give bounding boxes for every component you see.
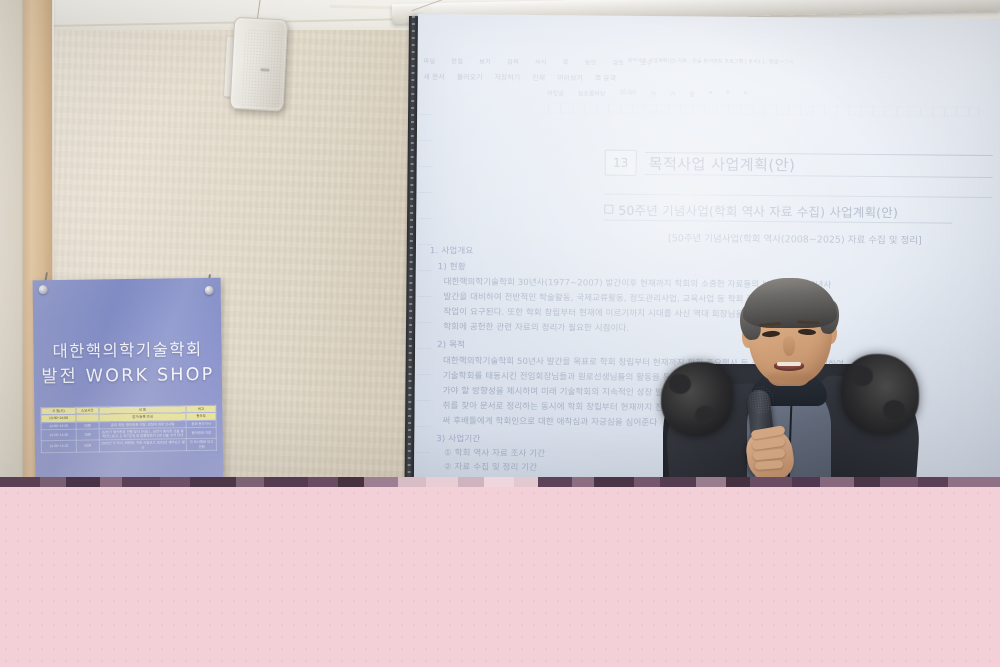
toolbar-save[interactable]: 저장하기 [494, 73, 520, 83]
menu-item-security[interactable]: 보안 [585, 57, 597, 66]
menu-item-tools[interactable]: 도구 [640, 58, 652, 67]
slide-header: 13 목적사업 사업계획(안) [605, 148, 993, 181]
period-item-1: ① 학회 역사 자료 조사 기간 [444, 446, 545, 459]
table-row: 14:30~15:20 50분 2025년 각 부서, 위원회, 지회 사업보고… [41, 439, 216, 453]
font-size-selector[interactable]: 10.0pt [619, 90, 636, 96]
presenter [655, 278, 925, 493]
row-time: 14:20~14:30 [41, 429, 76, 441]
nose [783, 336, 795, 356]
toolbar-new-doc[interactable]: 새 문서 [423, 72, 444, 82]
menu-item-view[interactable]: 보기 [479, 57, 491, 66]
app-toolbar-secondary: 바탕글 함초롬바탕 10.0pt 가 기 밑 ≡ ≡ ≡ [547, 87, 987, 101]
left-wall [0, 0, 24, 500]
wall-poster: 대한핵의학기술학회 발전 WORK SHOP 시 일(시) 소요시간 내 용 비… [33, 278, 224, 489]
pink-band-dot-pattern [0, 487, 1000, 667]
app-menu-bar: 파일 편집 보기 입력 서식 쪽 보안 검토 도구 [424, 56, 984, 70]
fur-trim-right [841, 354, 919, 434]
poster-schedule-table: 시 일(시) 소요시간 내 용 비고 13:30~14:00 참가/등록 안내 … [40, 405, 217, 453]
row-note: 평의원회 의장 [186, 427, 216, 439]
fur-tuft [669, 374, 691, 394]
menu-item-format[interactable]: 서식 [535, 57, 547, 66]
row-content: 2025년 각 부서, 위원회, 지회 사업보고 2025년 세부보고 결산 [99, 439, 187, 452]
slide-subtitle-text: 50주년 기념사업(학회 역사 자료 수집) 사업계획(안) [618, 203, 898, 220]
menu-item-review[interactable]: 검토 [613, 58, 625, 67]
document-ruler[interactable] [547, 103, 979, 117]
square-bullet-icon [604, 205, 613, 214]
section-purpose: 2) 목적 [437, 338, 465, 350]
app-toolbar-primary: 새 문서 불러오기 저장하기 인쇄 미리보기 쪽 윤곽 [423, 72, 983, 87]
pa-speaker-icon [224, 10, 289, 109]
toolbar-preview[interactable]: 미리보기 [557, 73, 583, 83]
section-status: 1) 현황 [438, 260, 466, 272]
fur-tuft [695, 406, 715, 424]
style-selector[interactable]: 바탕글 [547, 88, 564, 97]
chin-shadow [765, 372, 813, 382]
section-period: 3) 사업기간 [436, 432, 480, 444]
font-selector[interactable]: 함초롬바탕 [578, 88, 606, 97]
projected-app-chrome: 목적사업 사업계획(안) 자료 - 한글 문서편집 프로그램 [ 문서1 ] -… [417, 50, 1000, 129]
bold-button[interactable]: 가 [650, 89, 656, 98]
row-note: 각 부서별로 보고 진행 [187, 439, 217, 451]
teeth [777, 362, 801, 366]
menu-item-file[interactable]: 파일 [424, 56, 436, 65]
align-right-icon[interactable]: ≡ [744, 91, 748, 97]
row-duration: 10분 [76, 429, 99, 441]
slide-title: 목적사업 사업계획(안) [649, 153, 796, 175]
align-left-icon[interactable]: ≡ [709, 91, 713, 97]
period-item-2: ② 자료 수집 및 정리 기간 [444, 460, 537, 473]
italic-button[interactable]: 기 [670, 89, 676, 98]
pink-overlay-band [0, 487, 1000, 667]
poster-grommet-left [39, 285, 48, 294]
slide-number-badge: 13 [605, 150, 637, 176]
menu-item-page[interactable]: 쪽 [563, 57, 569, 66]
slide-subtitle: 50주년 기념사업(학회 역사 자료 수집) 사업계획(안) [604, 200, 1000, 222]
toolbar-page-outline[interactable]: 쪽 윤곽 [595, 74, 616, 84]
hair [743, 278, 837, 328]
align-center-icon[interactable]: ≡ [726, 91, 730, 97]
poster-title-line2: 발전 WORK SHOP [34, 361, 222, 389]
presentation-photo-scene: 목적사업 사업계획(안) 자료 - 한글 문서편집 프로그램 [ 문서1 ] -… [0, 0, 1000, 667]
underline-button[interactable]: 밑 [689, 89, 695, 98]
poster-title-line1: 대한핵의학기술학회 [33, 336, 221, 363]
fur-trim-left [661, 362, 733, 436]
menu-item-input[interactable]: 입력 [507, 57, 519, 66]
slide-bracket-note: [50주년 기념사업(학회 역사(2008~2025) 자료 수집 및 정리] [668, 230, 1000, 247]
fur-tuft [851, 366, 873, 386]
toolbar-print[interactable]: 인쇄 [532, 73, 545, 83]
poster-grommet-right [205, 286, 214, 295]
row-time: 14:30~15:20 [41, 440, 76, 452]
section-divider [604, 194, 992, 198]
body-line-4: 학회에 공헌한 관련 자료의 정리가 필요한 시점이다. [443, 320, 629, 334]
speaker-logo [260, 68, 269, 71]
speaker-body [229, 17, 288, 112]
menu-item-edit[interactable]: 편집 [451, 56, 463, 65]
fur-tuft [883, 400, 905, 420]
toolbar-open[interactable]: 불러오기 [457, 72, 483, 82]
purpose-line-5: 써 후배들에게 학회인으로 대한 애착심과 자긍심을 심어준다 [442, 414, 657, 428]
row-duration: 50분 [76, 440, 99, 452]
section-overview: 1. 사업개요 [430, 244, 474, 256]
